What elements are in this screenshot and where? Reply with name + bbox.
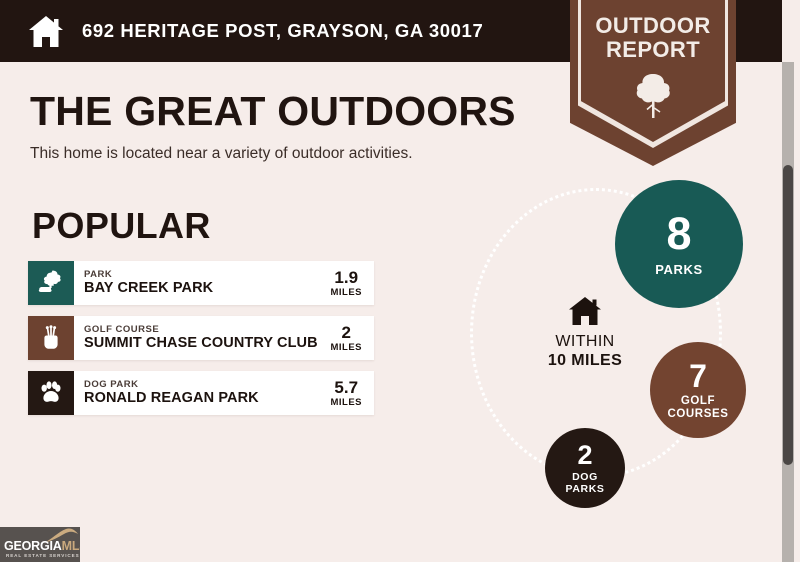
stat-circle-parks[interactable]: 8 PARKS <box>615 180 743 308</box>
park-tree-icon <box>28 261 74 305</box>
stat-label-golf-courses: GOLF COURSES <box>667 395 728 421</box>
badge-line-2: REPORT <box>570 38 736 62</box>
brand-name: GEORGIAMLS <box>4 539 80 553</box>
home-icon <box>568 296 602 326</box>
list-item-name: SUMMIT CHASE COUNTRY CLUB <box>84 335 324 352</box>
header-address: 692 HERITAGE POST, GRAYSON, GA 30017 <box>82 20 483 42</box>
list-item[interactable]: GOLF COURSE SUMMIT CHASE COUNTRY CLUB 2 … <box>28 316 374 360</box>
list-item-distance-unit: MILES <box>330 287 362 298</box>
stat-circle-dog-parks[interactable]: 2 DOG PARKS <box>545 428 625 508</box>
list-item-distance-unit: MILES <box>330 397 362 408</box>
popular-section-title: POPULAR <box>32 205 211 247</box>
stat-value-dog-parks: 2 <box>577 442 592 469</box>
outdoor-stats-diagram: WITHIN 10 MILES 8 PARKS 7 GOLF COURSES 2… <box>460 170 780 540</box>
stat-label-dog-parks: DOG PARKS <box>566 471 605 495</box>
golf-bag-icon <box>28 316 74 360</box>
home-icon <box>28 15 64 48</box>
stat-label-parks: PARKS <box>655 262 703 277</box>
stat-label-golf-line-2: COURSES <box>667 408 728 421</box>
list-item-name: BAY CREEK PARK <box>84 280 324 297</box>
page-title: THE GREAT OUTDOORS <box>30 88 550 134</box>
list-item-distance-value: 5.7 <box>334 379 358 397</box>
list-item-name: RONALD REAGAN PARK <box>84 390 324 407</box>
georgia-mls-logo: GEORGIAMLS REAL ESTATE SERVICES <box>0 527 80 562</box>
list-item-text: PARK BAY CREEK PARK <box>74 261 324 305</box>
list-item[interactable]: PARK BAY CREEK PARK 1.9 MILES <box>28 261 374 305</box>
list-item-category: GOLF COURSE <box>84 324 324 335</box>
stat-label-dog-line-1: DOG <box>566 471 605 483</box>
list-item-text: DOG PARK RONALD REAGAN PARK <box>74 371 324 415</box>
diagram-center-label: WITHIN 10 MILES <box>520 296 650 370</box>
diagram-center-line-2: 10 MILES <box>520 351 650 370</box>
scrollbar-thumb[interactable] <box>783 165 793 465</box>
list-item[interactable]: DOG PARK RONALD REAGAN PARK 5.7 MILES <box>28 371 374 415</box>
page-subtitle: This home is located near a variety of o… <box>30 144 550 164</box>
brand-tagline: REAL ESTATE SERVICES <box>6 553 80 558</box>
stat-value-golf-courses: 7 <box>689 360 707 392</box>
brand-name-part-1: GEORGIA <box>4 539 62 553</box>
list-item-distance: 2 MILES <box>324 316 374 360</box>
outdoor-report-badge-text: OUTDOOR REPORT <box>570 14 736 62</box>
stat-value-parks: 8 <box>666 211 691 256</box>
paw-print-icon <box>28 371 74 415</box>
list-item-distance-value: 1.9 <box>334 269 358 287</box>
list-item-distance: 1.9 MILES <box>324 261 374 305</box>
brand-name-part-2: MLS <box>62 539 80 553</box>
popular-list: PARK BAY CREEK PARK 1.9 MILES GOLF CO <box>28 261 374 426</box>
list-item-text: GOLF COURSE SUMMIT CHASE COUNTRY CLUB <box>74 316 324 360</box>
outdoor-report-page: 692 HERITAGE POST, GRAYSON, GA 30017 OUT… <box>0 0 800 562</box>
list-item-distance-value: 2 <box>342 324 351 342</box>
stat-label-golf-line-1: GOLF <box>667 395 728 408</box>
list-item-distance: 5.7 MILES <box>324 371 374 415</box>
list-item-category: DOG PARK <box>84 379 324 390</box>
stat-circle-golf-courses[interactable]: 7 GOLF COURSES <box>650 342 746 438</box>
list-item-category: PARK <box>84 269 324 280</box>
badge-line-1: OUTDOOR <box>570 14 736 38</box>
diagram-center-line-1: WITHIN <box>520 332 650 351</box>
tree-icon <box>632 72 674 120</box>
heading-block: THE GREAT OUTDOORS This home is located … <box>30 88 550 164</box>
list-item-distance-unit: MILES <box>330 342 362 353</box>
stat-label-dog-line-2: PARKS <box>566 483 605 495</box>
